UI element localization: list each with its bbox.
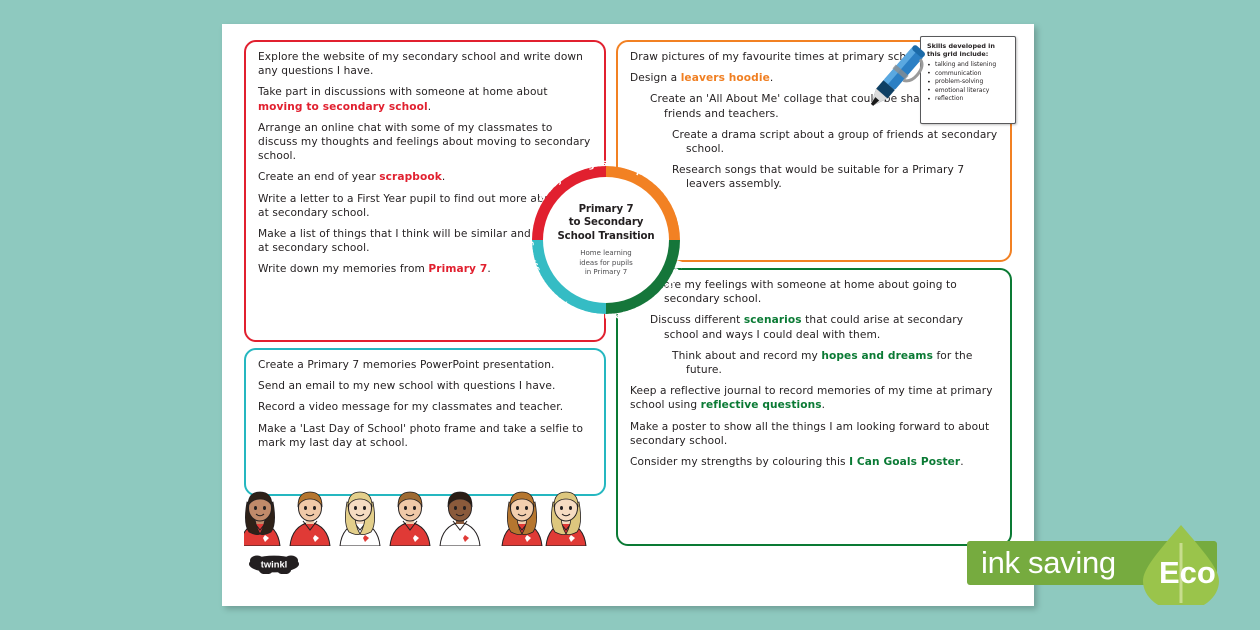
body-text: Consider my strengths by colouring this	[630, 456, 849, 468]
health-item-2: Think about and record my hopes and drea…	[630, 349, 998, 377]
twinkl-logo: twinkl	[248, 554, 300, 574]
body-text: Explore the website of my secondary scho…	[258, 51, 583, 77]
body-text: Research songs that would be suitable fo…	[672, 164, 964, 190]
body-text: Create a drama script about a group of f…	[672, 129, 997, 155]
pupil-figure	[440, 492, 480, 546]
highlighted-text: Primary 7	[428, 263, 487, 275]
health-item-4: Make a poster to show all the things I a…	[630, 420, 998, 448]
eco-label-ink-saving: ink saving	[967, 545, 1116, 581]
wheel-svg: Literacy & English Expressive Arts Healt…	[500, 134, 712, 346]
card-science-technology-engineering-maths: Create a Primary 7 memories PowerPoint p…	[244, 348, 606, 496]
body-text: Take part in discussions with someone at…	[258, 86, 548, 98]
body-text: Create a Primary 7 memories PowerPoint p…	[258, 359, 555, 371]
pupil-figure	[244, 492, 280, 546]
body-text: Make a 'Last Day of School' photo frame …	[258, 423, 583, 449]
highlighted-text: I Can Goals Poster	[849, 456, 960, 468]
body-text: Record a video message for my classmates…	[258, 401, 563, 413]
worksheet-page: Explore the website of my secondary scho…	[222, 24, 1034, 606]
pupil-figure	[502, 492, 542, 546]
body-text: Make a poster to show all the things I a…	[630, 421, 989, 447]
body-text: Think about and record my	[672, 350, 821, 362]
highlighted-text: scenarios	[744, 314, 802, 326]
highlighted-text: leavers hoodie	[681, 72, 770, 84]
ink-saving-eco-watermark: ink saving Eco	[967, 533, 1260, 593]
body-text: .	[822, 399, 825, 411]
body-text: .	[770, 72, 773, 84]
health-item-5: Consider my strengths by colouring this …	[630, 455, 998, 469]
body-text: .	[428, 101, 431, 113]
twinkl-logo-text: twinkl	[261, 558, 288, 569]
body-text: Write down my memories from	[258, 263, 428, 275]
highlighted-text: scrapbook	[379, 171, 442, 183]
highlighted-text: hopes and dreams	[821, 350, 933, 362]
pupil-figure	[290, 492, 330, 546]
body-text: Send an email to my new school with ques…	[258, 380, 555, 392]
stem-item-1: Send an email to my new school with ques…	[258, 379, 592, 393]
literacy-item-0: Explore the website of my secondary scho…	[258, 50, 592, 78]
highlighted-text: moving to secondary school	[258, 101, 428, 113]
stem-item-2: Record a video message for my classmates…	[258, 400, 592, 414]
body-text: Create an end of year	[258, 171, 379, 183]
schoolchildren-illustration	[244, 490, 600, 546]
body-text: .	[442, 171, 445, 183]
body-text: .	[487, 263, 490, 275]
subject-wheel: Literacy & English Expressive Arts Healt…	[500, 134, 712, 346]
eco-label-eco: Eco	[1159, 555, 1216, 591]
highlighted-text: reflective questions	[701, 399, 822, 411]
body-text: Design a	[630, 72, 681, 84]
stem-item-3: Make a 'Last Day of School' photo frame …	[258, 422, 592, 450]
pupil-figure	[546, 492, 586, 546]
body-text: .	[960, 456, 963, 468]
stem-item-0: Create a Primary 7 memories PowerPoint p…	[258, 358, 592, 372]
literacy-item-1: Take part in discussions with someone at…	[258, 85, 592, 113]
pen-icon	[850, 38, 942, 118]
health-item-3: Keep a reflective journal to record memo…	[630, 384, 998, 412]
pupil-figure	[340, 492, 380, 546]
pupil-figure	[390, 492, 430, 546]
